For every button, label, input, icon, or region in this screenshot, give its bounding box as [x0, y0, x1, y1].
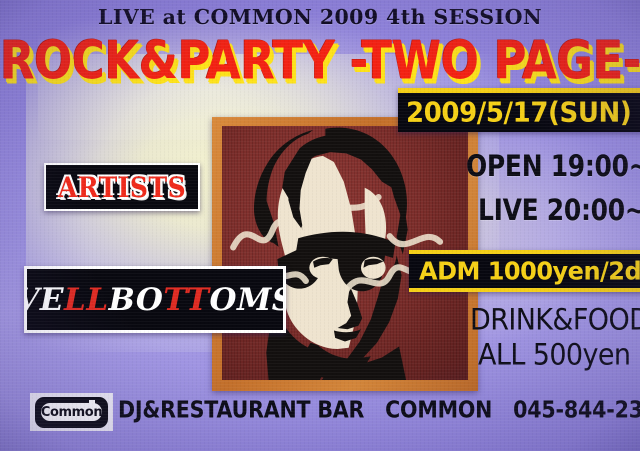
flyer-poster: LIVE at COMMON 2009 4th SESSION ROCK&PAR… [0, 0, 640, 451]
poster-scan-noise [0, 0, 640, 451]
